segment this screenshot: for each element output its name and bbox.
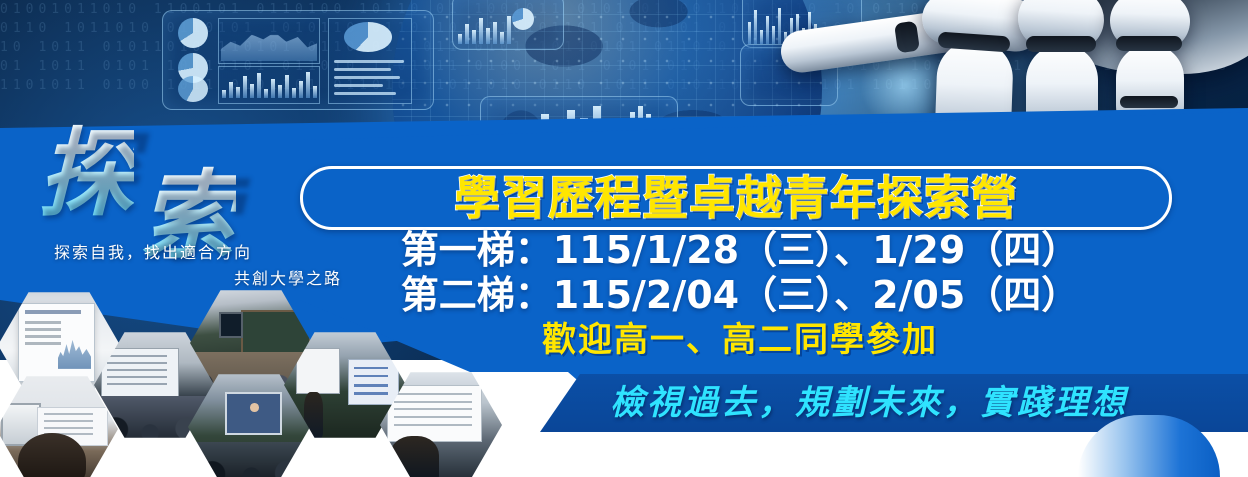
slide-line-5 xyxy=(107,383,168,385)
tagline-line-1: 探索自我，找出適合方向 xyxy=(54,243,252,262)
hud-area-chart xyxy=(218,18,320,64)
worksheet-line-1 xyxy=(394,393,472,395)
worksheet-student xyxy=(390,436,439,477)
poster-text-3 xyxy=(25,335,61,338)
robot-index-knuckle xyxy=(894,21,920,54)
poster-skyline-graphic xyxy=(58,333,91,368)
worksheet-line-3 xyxy=(394,408,472,410)
speaker-face xyxy=(250,403,259,412)
poster-text-1 xyxy=(25,321,61,324)
worksheet-line-2 xyxy=(394,401,472,403)
robot-ring-knuckle xyxy=(1026,36,1096,52)
lecture-slide-line-3 xyxy=(354,384,388,387)
poster-text-4 xyxy=(25,342,61,345)
event-title-pill: 學習歷程暨卓越青年探索營 xyxy=(300,166,1172,230)
hud-pie-3-icon xyxy=(178,76,208,102)
notes-line-2 xyxy=(44,420,93,422)
hud-pie-1-icon xyxy=(178,18,208,48)
worksheet-line-5 xyxy=(394,424,472,426)
lecture-slide-line-2 xyxy=(354,375,388,378)
classroom-monitor xyxy=(219,312,243,338)
slogan-text: 檢視過去，規劃未來，實踐理想 xyxy=(610,383,1128,423)
lecture-slide-line-1 xyxy=(354,367,388,370)
lecture-slide xyxy=(348,359,399,405)
hud-text-lines xyxy=(334,60,404,100)
robot-pinky-knuckle xyxy=(1116,36,1182,51)
slide-line-2 xyxy=(107,362,168,364)
slide-line-1 xyxy=(107,355,168,357)
speaker-video-screen xyxy=(225,392,283,436)
hud-radar-pie-icon xyxy=(344,22,392,52)
worksheet-line-4 xyxy=(394,416,472,418)
slide-line-4 xyxy=(107,376,168,378)
promotional-banner: 01001011010 1100101 0110100 10110 01 100… xyxy=(0,0,1248,477)
poster-sheet xyxy=(18,303,96,382)
hud-center-pie-icon xyxy=(512,8,534,30)
robot-pinky-joint xyxy=(1120,96,1178,108)
hud-bar-series xyxy=(222,70,317,98)
poster-text-2 xyxy=(25,328,61,331)
lecture-whiteboard xyxy=(296,348,339,394)
speaker-audience-row xyxy=(188,442,310,477)
notes-line-1 xyxy=(44,413,93,415)
notes-line-3 xyxy=(44,427,93,429)
worksheet-sheet xyxy=(387,385,482,442)
session-date-1: 第一梯：115/1/28（三）、1/29（四） xyxy=(300,228,1180,273)
classroom-blackboard xyxy=(241,310,311,358)
event-title-text: 學習歷程暨卓越青年探索營 xyxy=(454,175,1018,221)
photo-collage xyxy=(0,286,528,477)
slide-line-3 xyxy=(107,369,168,371)
hud-center-bars xyxy=(458,14,511,44)
projector-slide xyxy=(101,348,179,401)
lecture-slide-line-4 xyxy=(354,392,388,395)
poster-heading xyxy=(25,310,81,314)
